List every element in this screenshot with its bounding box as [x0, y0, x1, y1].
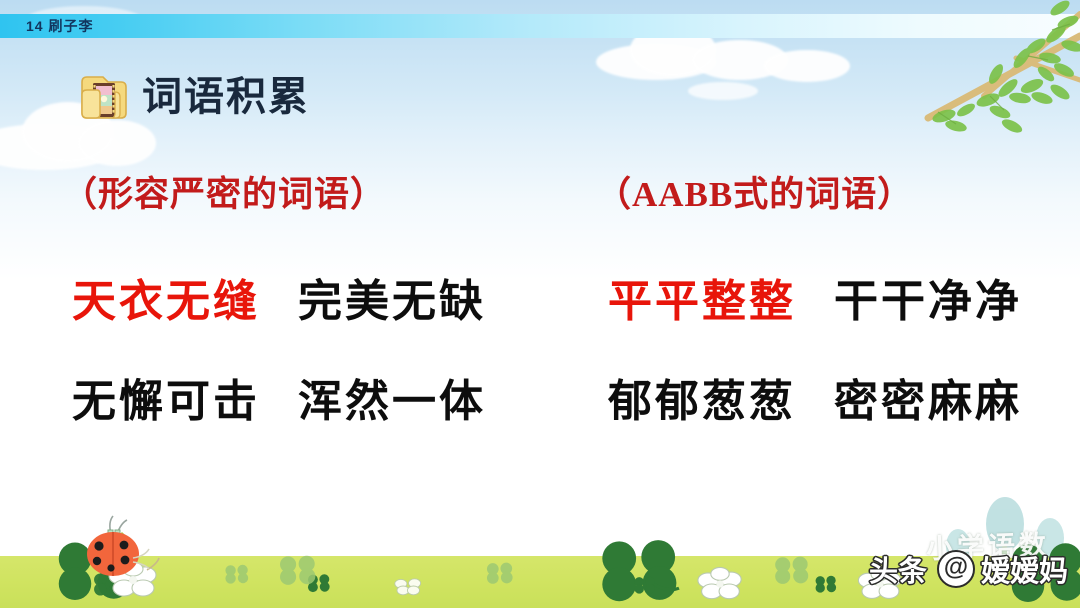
watermark-platform: 头条 [869, 548, 927, 590]
folder-film-icon [78, 72, 130, 122]
table-row: 天衣无缝 完美无缺 [72, 280, 486, 324]
lesson-header-band [0, 14, 1080, 38]
word-cell: 天衣无缝 [72, 280, 260, 324]
column-heading-left: （形容严密的词语） [62, 176, 582, 215]
page-title: 词语积累 [142, 77, 310, 117]
slide-root: 14 刷子李 [0, 0, 1080, 608]
lesson-title: 14 刷子李 [26, 14, 93, 38]
table-row: 郁郁葱葱 密密麻麻 [608, 380, 1022, 424]
at-icon: @ [937, 550, 975, 588]
word-cell: 完美无缺 [298, 280, 486, 324]
column-heading-right: （AABB式的词语） [596, 176, 1066, 215]
word-cell: 密密麻麻 [834, 380, 1022, 424]
watermark-author: 嫒嫒妈 [981, 548, 1068, 590]
section-title-row: 词语积累 [78, 72, 310, 122]
word-cell: 无懈可击 [72, 380, 260, 424]
word-cell: 平平整整 [608, 280, 796, 324]
watermark: 头条 @ 嫒嫒妈 [869, 548, 1068, 590]
word-cell: 浑然一体 [298, 380, 486, 424]
word-column-right: （AABB式的词语） 平平整整 干干净净 郁郁葱葱 密密麻麻 [596, 176, 1066, 215]
sky-background [0, 0, 1080, 300]
word-cell: 郁郁葱葱 [608, 380, 796, 424]
table-row: 无懈可击 浑然一体 [72, 380, 486, 424]
word-column-left: （形容严密的词语） 天衣无缝 完美无缺 无懈可击 浑然一体 [62, 176, 582, 215]
table-row: 平平整整 干干净净 [608, 280, 1022, 324]
word-cell: 干干净净 [834, 280, 1022, 324]
